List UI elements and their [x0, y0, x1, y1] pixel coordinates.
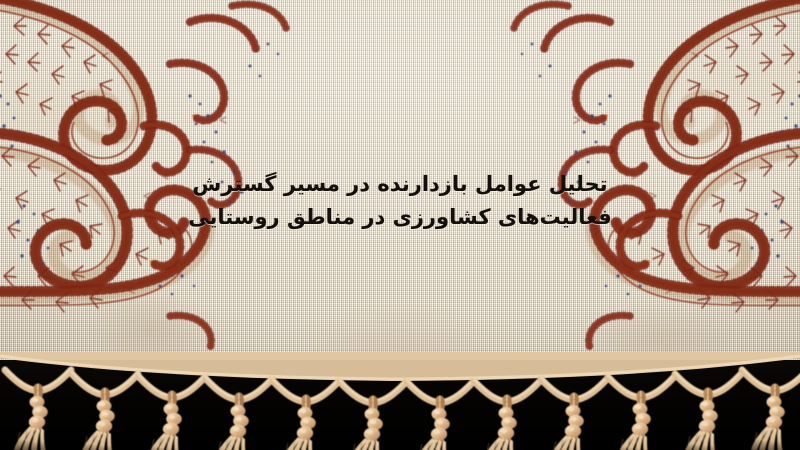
title-slide: تحلیل عوامل بازدارنده در مسیر گسترش فعال…	[0, 0, 800, 450]
title-line-1: تحلیل عوامل بازدارنده در مسیر گسترش	[0, 168, 800, 201]
title-line-2: فعالیت‌های کشاورزی در مناطق روستایی	[0, 201, 800, 234]
tassel-fringe	[0, 352, 800, 450]
slide-title: تحلیل عوامل بازدارنده در مسیر گسترش فعال…	[0, 168, 800, 234]
